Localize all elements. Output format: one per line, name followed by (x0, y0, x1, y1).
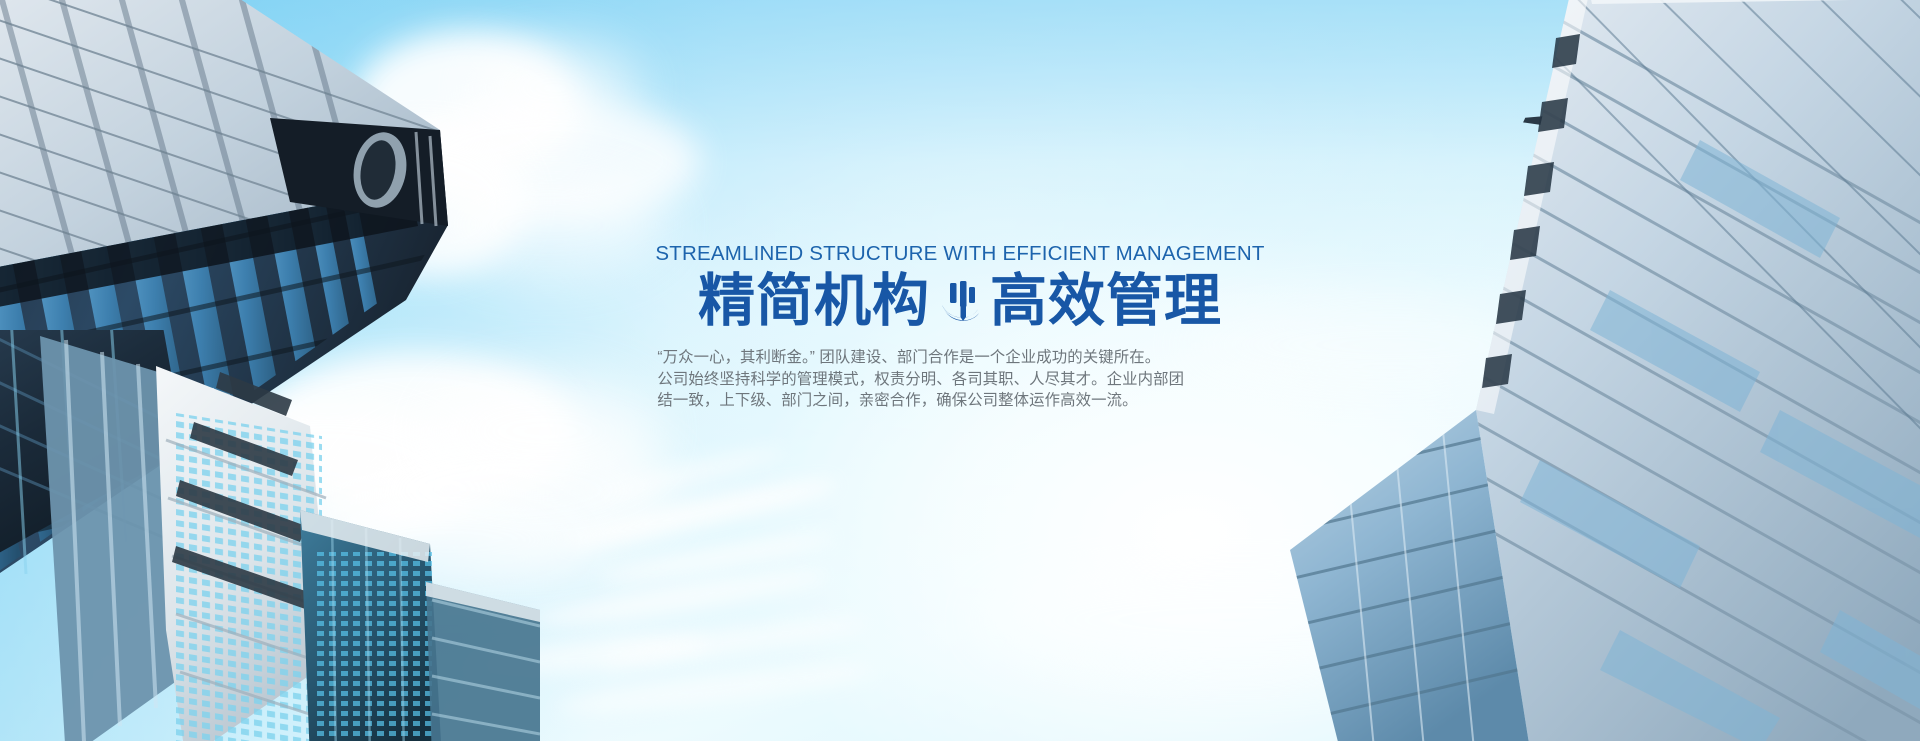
headline-right-text: 高效管理 (990, 270, 1222, 334)
headline-left-text: 精简机构 (698, 270, 930, 334)
company-logo-mark-icon (940, 281, 980, 327)
hero-eyebrow: STREAMLINED STRUCTURE WITH EFFICIENT MAN… (655, 243, 1264, 266)
body-line: 结一致，上下级、部门之间，亲密合作，确保公司整体运作高效一流。 (657, 390, 1197, 412)
body-line: 公司始终坚持科学的管理模式，权责分明、各司其职、人尽其才。企业内部团 (657, 369, 1197, 391)
hero-copy-block: STREAMLINED STRUCTURE WITH EFFICIENT MAN… (0, 243, 1920, 412)
body-line: “万众一心，其利断金。” 团队建设、部门合作是一个企业成功的关键所在。 (657, 347, 1197, 369)
hero-headline: 精简机构 高效管理 (655, 270, 1264, 334)
hero-body-copy: “万众一心，其利断金。” 团队建设、部门合作是一个企业成功的关键所在。 公司始终… (657, 347, 1197, 412)
hero-banner: STREAMLINED STRUCTURE WITH EFFICIENT MAN… (0, 0, 1920, 741)
